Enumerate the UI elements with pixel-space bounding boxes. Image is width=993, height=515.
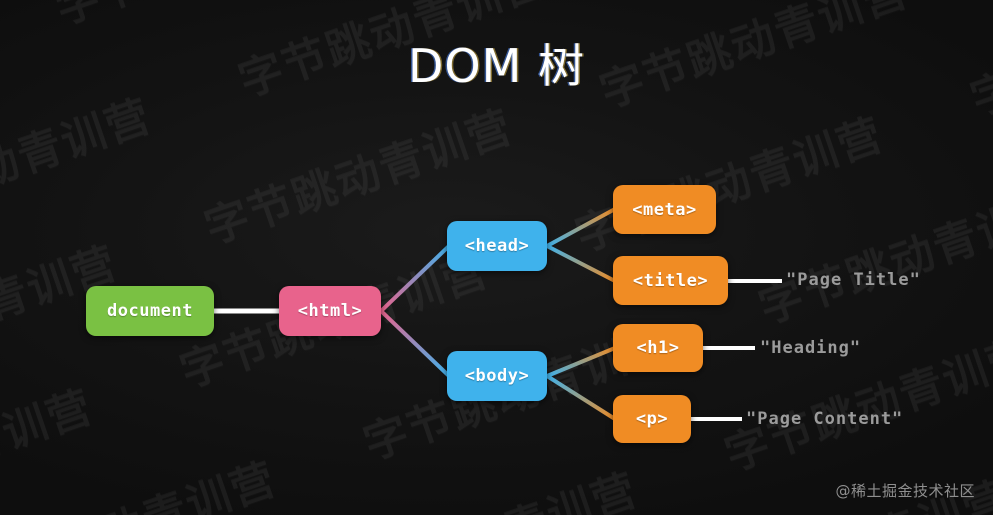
edge-head-title (547, 246, 615, 281)
node-h1[interactable]: <h1> (613, 324, 703, 372)
node-head[interactable]: <head> (447, 221, 547, 271)
node-p[interactable]: <p> (613, 395, 691, 443)
node-html[interactable]: <html> (279, 286, 381, 336)
edge-body-h1 (547, 348, 615, 376)
node-body[interactable]: <body> (447, 351, 547, 401)
node-title[interactable]: <title> (613, 256, 728, 305)
node-label: <body> (465, 366, 529, 386)
leaf-label-page-content: "Page Content" (746, 409, 903, 429)
edge-body-p (547, 376, 615, 419)
credit-watermark: @稀土掘金技术社区 (835, 480, 975, 501)
watermark-text: 字节跳动青训营 (0, 79, 159, 244)
watermark-text: 字节跳动青训营 (0, 442, 284, 515)
node-meta[interactable]: <meta> (613, 185, 716, 234)
watermark-text: 字节跳动青训营 (749, 170, 993, 335)
page-title: DOM 树 (0, 30, 993, 96)
edge-html-head (381, 246, 449, 311)
node-label: <head> (465, 236, 529, 256)
leaf-label-page-title: "Page Title" (786, 270, 921, 290)
leaf-label-heading: "Heading" (760, 338, 861, 358)
node-label: <meta> (632, 200, 696, 220)
node-label: <title> (633, 271, 708, 291)
node-label: <h1> (637, 338, 680, 358)
slide-canvas: 字节跳动青训营 字节跳动青训营 字节跳动青训营 字节跳动青训营 字节跳动青训营 … (0, 0, 993, 515)
edge-head-meta (547, 209, 615, 246)
node-label: <html> (298, 301, 362, 321)
node-label: <p> (636, 409, 668, 429)
watermark-text: 字节跳动青训营 (0, 370, 100, 515)
edge-html-body (381, 311, 449, 376)
node-label: document (107, 301, 193, 321)
watermark-text: 字节跳动青训营 (565, 98, 890, 263)
watermark-text: 字节跳动青训营 (320, 453, 645, 515)
node-document[interactable]: document (86, 286, 214, 336)
